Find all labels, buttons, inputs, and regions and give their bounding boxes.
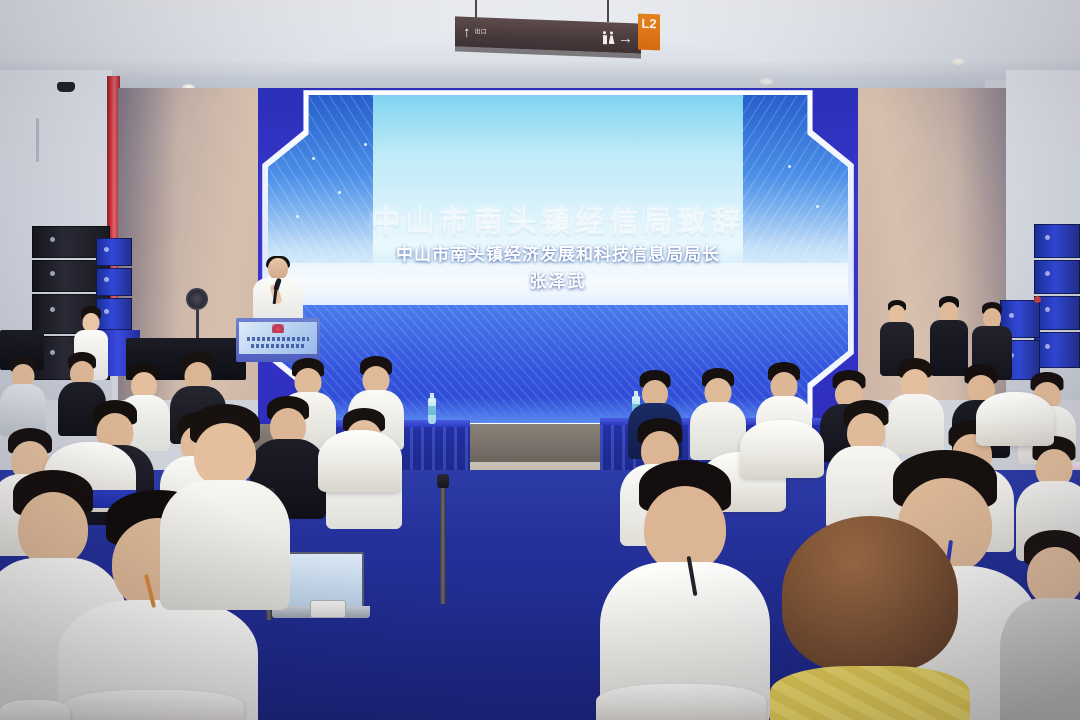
audience-chair[interactable] xyxy=(318,430,402,492)
line-array-speaker-right xyxy=(1034,224,1080,370)
speaker-indicator-light xyxy=(1034,296,1041,303)
audience-member xyxy=(0,356,46,432)
speaker-podium xyxy=(236,318,320,362)
presenter-head xyxy=(268,258,288,280)
podium-text-line2 xyxy=(251,344,305,348)
audience-chair[interactable] xyxy=(0,700,70,720)
podium-branding-panel xyxy=(239,322,317,354)
conference-hall-photo: ↑ 出口 → L2 中山市南头镇经信局致辞 中山市南头镇经济发展和科技信息局局 xyxy=(0,0,1080,720)
sign-board: ↑ 出口 → xyxy=(455,16,641,53)
podium-logo xyxy=(272,324,284,333)
restroom-icon xyxy=(602,31,614,44)
ceiling-downlight xyxy=(760,78,773,85)
presenter xyxy=(248,258,308,320)
sign-spacer xyxy=(487,33,602,37)
audience-chair[interactable] xyxy=(740,420,824,478)
sign-exit-group: ↑ 出口 xyxy=(463,24,487,40)
audience-member-foreground xyxy=(770,516,970,720)
pedestal-fan-icon xyxy=(186,288,208,310)
stanchion-post xyxy=(440,486,446,604)
podium-text-line1 xyxy=(247,337,309,341)
water-bottle xyxy=(428,398,436,424)
stanchion-head xyxy=(437,474,449,488)
audience-member-foreground xyxy=(1000,530,1080,720)
screen-ghost-title: 中山市南头镇经信局致辞 xyxy=(268,197,848,241)
overhead-wayfinding-sign: ↑ 出口 → L2 xyxy=(455,0,660,58)
security-camera-icon xyxy=(57,82,75,92)
audience-chair[interactable] xyxy=(596,684,766,720)
audience-chair[interactable] xyxy=(64,690,244,720)
screen-subtitle-line2: 张泽武 xyxy=(268,267,848,292)
arrow-right-icon: → xyxy=(618,30,633,46)
audience-member-foreground xyxy=(160,404,290,604)
sign-rod xyxy=(607,0,609,22)
screen-subtitle-line1: 中山市南头镇经济发展和科技信息局局长 xyxy=(268,240,848,265)
audience-member-foreground xyxy=(600,460,770,720)
sign-exit-label: 出口 xyxy=(475,29,488,36)
sign-restroom-group: → xyxy=(602,30,633,46)
attendee-phone[interactable] xyxy=(310,600,346,618)
ceiling-downlight xyxy=(952,58,965,65)
arrow-up-icon: ↑ xyxy=(463,24,471,39)
wall-seam xyxy=(36,118,39,162)
audience-chair[interactable] xyxy=(976,392,1054,446)
level-badge: L2 xyxy=(638,14,660,51)
